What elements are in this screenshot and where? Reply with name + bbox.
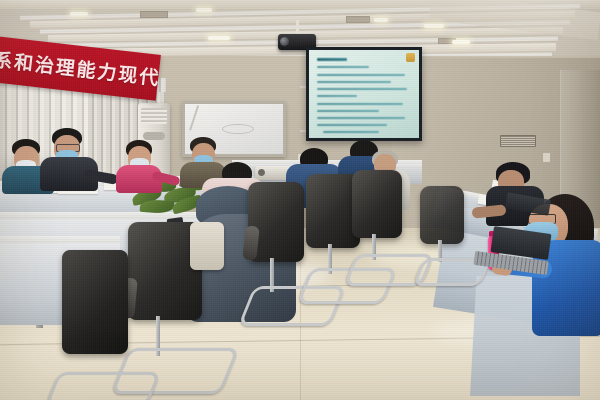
desktop-projector-lens-icon [258,169,265,176]
slide-text-line [317,58,347,61]
slide-text-line [317,66,369,68]
slide-text-line [317,88,407,90]
slide-logo-icon [406,53,415,62]
slide-text-line [317,81,391,83]
ceiling-downlight [70,12,88,16]
wall-outlet [542,152,551,163]
slide-text-line [317,117,405,119]
air-conditioner-panel[interactable] [143,132,165,140]
ceiling-downlight [452,40,470,44]
ceiling-downlight [374,18,388,22]
slide-text-line [317,124,387,126]
ceiling-downlight [424,24,444,28]
wall-air-vent [500,135,536,147]
slide-text-line [323,131,379,133]
ceiling-downlight [196,8,212,12]
whiteboard-marking [222,124,254,134]
projection-screen [306,47,422,141]
ceiling-vent [346,16,370,23]
projection-slide [309,50,419,138]
handbag [190,222,224,270]
slide-text-line [317,110,379,112]
slide-text-line [317,103,403,105]
air-conditioner-grille [141,108,167,124]
slide-text-line [317,95,357,97]
ceiling-downlight [208,36,230,40]
ceiling-vent [140,11,168,18]
projector-lens-icon [280,37,289,46]
conference-room-photo: 系和治理能力现代化 [0,0,600,400]
slide-text-line [317,74,405,76]
